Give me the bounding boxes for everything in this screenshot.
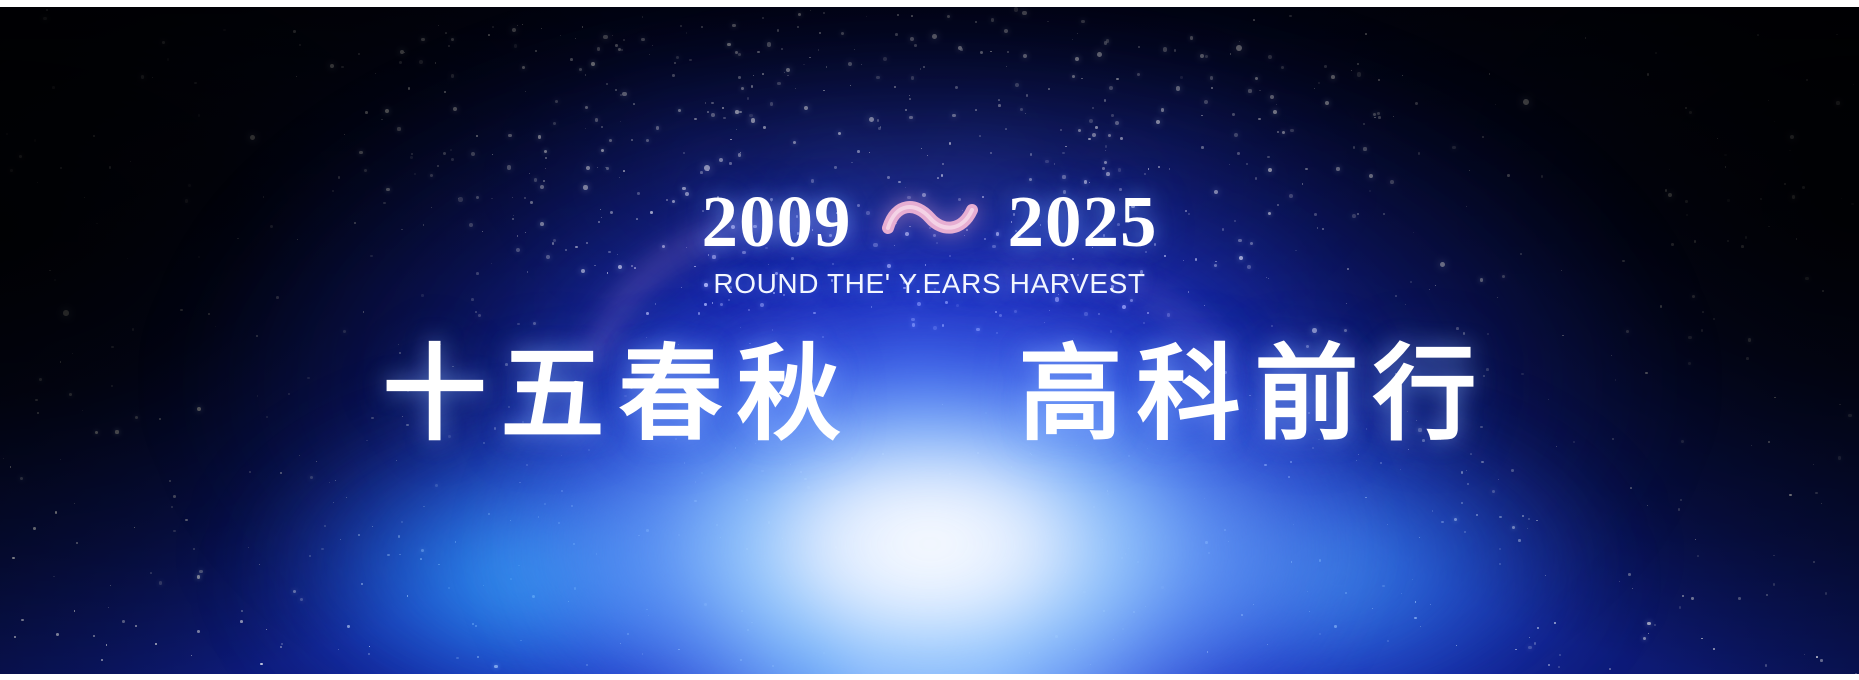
letterbox-top <box>0 0 1859 7</box>
subtitle-text: ROUND THE' Y.EARS HARVEST <box>0 268 1859 300</box>
headline-row: 十五春秋 高科前行 <box>0 333 1859 456</box>
headline-left: 十五春秋 <box>368 333 854 456</box>
year-end: 2025 <box>1008 185 1158 258</box>
anniversary-banner: 2009 2025 ROUND THE' Y.EARS HARVEST 十五春秋… <box>0 0 1859 680</box>
headline-right: 高科前行 <box>1005 333 1491 456</box>
banner-content: 2009 2025 ROUND THE' Y.EARS HARVEST 十五春秋… <box>0 0 1859 680</box>
letterbox-bottom <box>0 674 1859 680</box>
year-range: 2009 2025 <box>0 185 1859 258</box>
tilde-separator-icon <box>882 192 978 252</box>
year-start: 2009 <box>702 185 852 258</box>
